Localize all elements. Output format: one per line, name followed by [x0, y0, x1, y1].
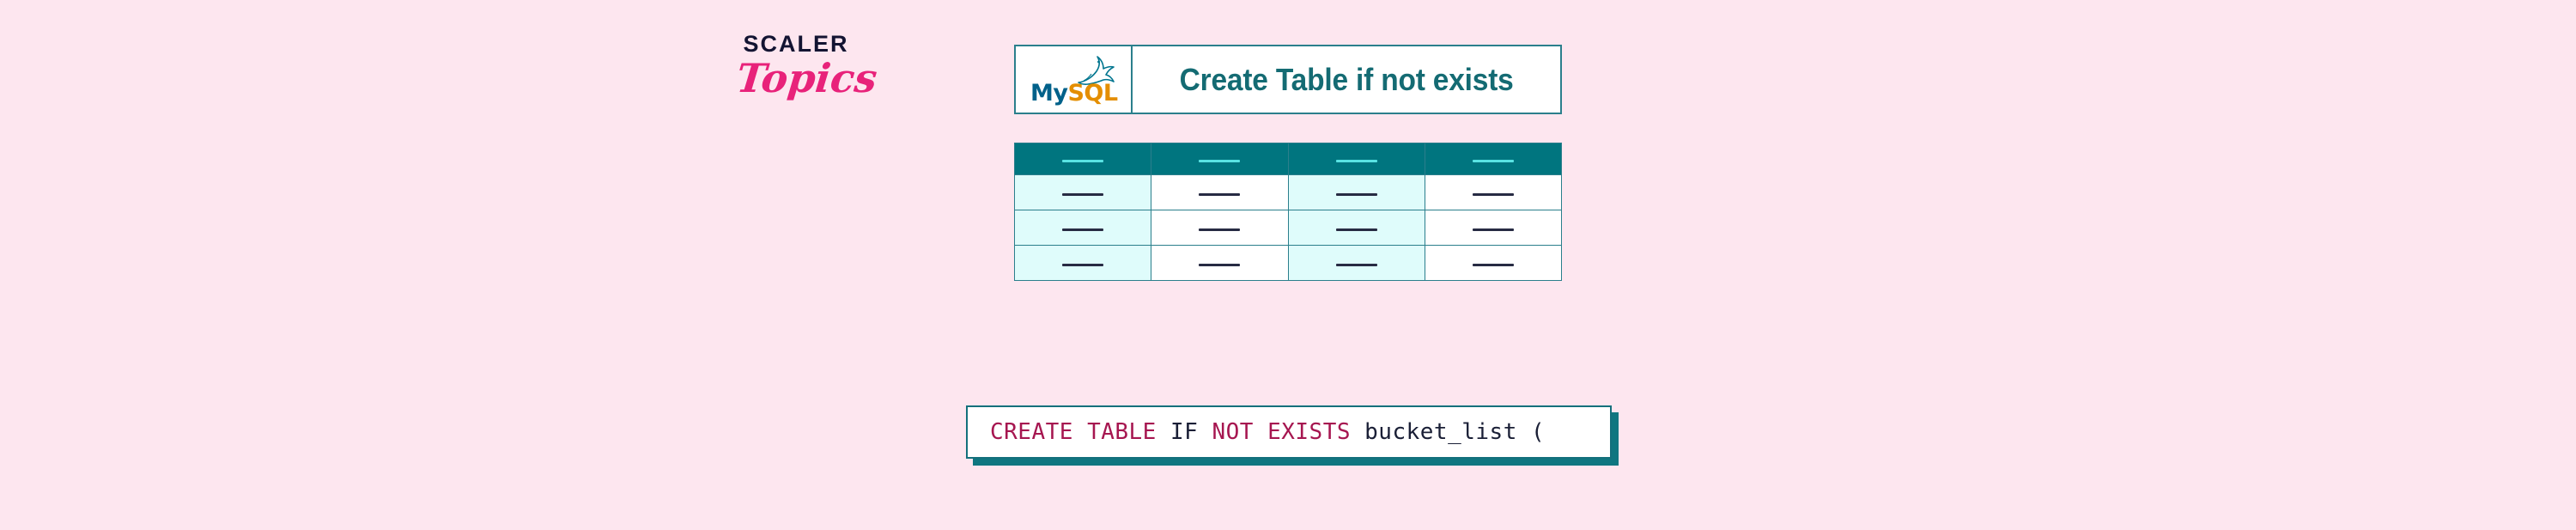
- table-header: [1015, 143, 1562, 175]
- table-cell: [1015, 210, 1151, 246]
- table-cell: [1151, 210, 1288, 246]
- placeholder-dash: [1473, 264, 1514, 266]
- placeholder-dash: [1199, 264, 1240, 266]
- placeholder-dash: [1473, 160, 1514, 162]
- placeholder-dash: [1199, 228, 1240, 231]
- table-cell: [1015, 175, 1151, 210]
- table-row: [1015, 246, 1562, 281]
- sql-token: CREATE TABLE: [990, 419, 1170, 445]
- placeholder-dash: [1062, 193, 1103, 196]
- table-header-cell: [1288, 143, 1425, 175]
- logo-brand-text: SCALER: [740, 33, 852, 56]
- table-cell: [1015, 246, 1151, 281]
- placeholder-dash: [1336, 264, 1377, 266]
- table-cell: [1288, 175, 1425, 210]
- table-cell: [1288, 210, 1425, 246]
- placeholder-dash: [1473, 228, 1514, 231]
- table-header-cell: [1015, 143, 1151, 175]
- table-cell: [1425, 175, 1561, 210]
- table-cell: [1288, 246, 1425, 281]
- mysql-my-text: My: [1030, 80, 1067, 107]
- placeholder-dash: [1062, 264, 1103, 266]
- placeholder-dash: [1336, 160, 1377, 162]
- table-header-row: [1015, 143, 1562, 175]
- table-cell: [1425, 246, 1561, 281]
- placeholder-dash: [1199, 193, 1240, 196]
- table-cell: [1425, 210, 1561, 246]
- sql-code-block: CREATE TABLE IF NOT EXISTS bucket_list (: [966, 405, 1612, 459]
- header-title-box: MySQL Create Table if not exists: [1014, 45, 1562, 114]
- sql-token: bucket_list (: [1364, 419, 1545, 445]
- page-title: Create Table if not exists: [1179, 62, 1513, 98]
- table-header-cell: [1151, 143, 1288, 175]
- sql-token: NOT EXISTS: [1212, 419, 1364, 445]
- placeholder-dash: [1473, 193, 1514, 196]
- sql-code-text: CREATE TABLE IF NOT EXISTS bucket_list (: [968, 419, 1545, 445]
- placeholder-dash: [1336, 193, 1377, 196]
- placeholder-dash: [1062, 160, 1103, 162]
- sql-token: IF: [1170, 419, 1212, 445]
- table-cell: [1151, 246, 1288, 281]
- header-title-cell: Create Table if not exists: [1133, 46, 1560, 113]
- mysql-wordmark: MySQL: [1030, 82, 1118, 105]
- placeholder-dash: [1199, 160, 1240, 162]
- table-body: [1015, 175, 1562, 281]
- code-block-box: CREATE TABLE IF NOT EXISTS bucket_list (: [966, 405, 1612, 459]
- scaler-topics-logo: SCALER Topics: [740, 33, 886, 114]
- mysql-sql-text: SQL: [1067, 80, 1117, 107]
- mysql-logo: MySQL: [1027, 53, 1120, 107]
- table-row: [1015, 175, 1562, 210]
- table-header-cell: [1425, 143, 1561, 175]
- table-row: [1015, 210, 1562, 246]
- logo-product-text: Topics: [735, 58, 860, 98]
- placeholder-dash: [1062, 228, 1103, 231]
- schema-table: [1014, 143, 1562, 281]
- table-cell: [1151, 175, 1288, 210]
- placeholder-dash: [1336, 228, 1377, 231]
- header-logo-cell: MySQL: [1016, 46, 1133, 113]
